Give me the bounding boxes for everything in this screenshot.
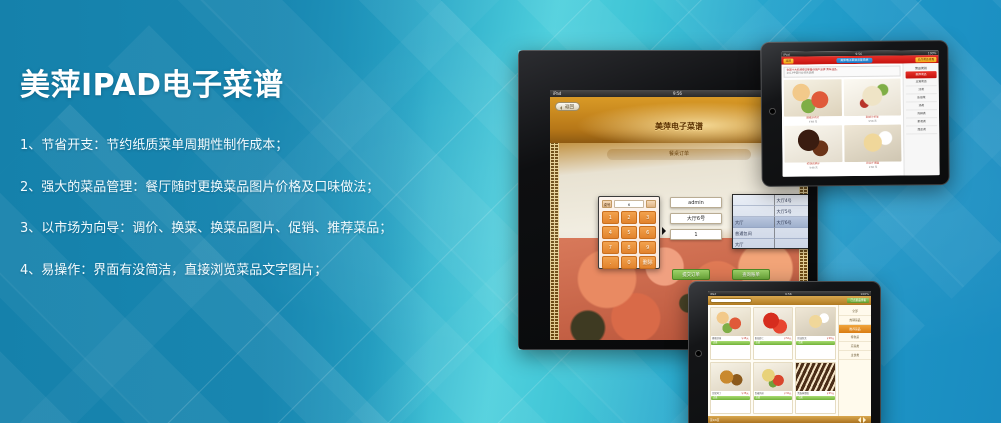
status-carrier: iPad (783, 52, 789, 56)
order-dish-button[interactable]: 点菜 (796, 341, 835, 345)
page-indicator: 第1/6页 (710, 418, 719, 422)
dish-price: ￥48 元 (785, 166, 843, 170)
keypad-grid[interactable]: 1 2 3 4 5 6 7 8 9 . 0 删除 (602, 211, 656, 269)
dish-card[interactable]: 红烧肉煲仔 ￥48 元 (784, 125, 842, 170)
status-time: 9:56 (785, 292, 792, 296)
dish-price: ￥38元 (741, 392, 749, 395)
order-dish-button[interactable]: 点菜 (711, 341, 750, 345)
dish-price: ￥48元 (741, 337, 749, 340)
back-button[interactable]: 返回 (555, 102, 580, 111)
notice-line-secondary: 2013中国行业领先品牌 (787, 71, 898, 76)
table-cell[interactable]: 大厅4号 (775, 195, 809, 206)
dish-card[interactable]: 奶油千层面 ￥38 元 (844, 125, 902, 170)
dish-price: ￥28元 (826, 337, 834, 340)
keypad-display: 桌号 6 (602, 200, 656, 208)
keypad-key[interactable]: 0 (621, 256, 638, 269)
table-cell[interactable] (775, 239, 809, 249)
order-fields: admin 大厅6号 1 (670, 197, 722, 245)
feature-bullet-3: 3、以市场为向导：调价、换菜、换菜品图片、促销、推荐菜品； (20, 221, 490, 237)
keypad-key[interactable]: 6 (639, 226, 656, 239)
dish-name: 番茄虾仁 (755, 337, 783, 340)
table-selection-panel[interactable]: 大厅4号 大厅5号 大厅 大厅6号 普通包间 大厅 (732, 194, 808, 249)
keypad-key[interactable]: 7 (602, 241, 619, 254)
pointer-arrow-icon (662, 227, 670, 235)
query-bill-button[interactable]: 查询账单 (732, 269, 770, 280)
status-time: 9:56 (855, 51, 862, 55)
table-field[interactable]: 大厅6号 (670, 213, 722, 224)
search-input[interactable] (710, 298, 752, 303)
order-dish-button[interactable]: 点菜 (711, 396, 750, 400)
menu-top-bar: 已点菜品查看 (708, 296, 871, 305)
app-title: 美萍电子菜谱点菜系统 (836, 57, 872, 62)
feature-bullet-4: 4、易操作：界面有没简洁，直接浏览菜品文字图片； (20, 263, 490, 279)
category-item[interactable]: 热销菜品 (839, 316, 871, 325)
order-dish-button[interactable]: 点菜 (796, 396, 835, 400)
dish-price: ￥58 元 (844, 119, 902, 123)
keypad-key[interactable]: 8 (621, 241, 638, 254)
top-right-tablet-device: iPad 9:56 100% 返回 美萍电子菜谱点菜系统 已点菜品查看 全国十大… (760, 40, 950, 187)
category-item[interactable]: 甜品类 (906, 126, 937, 134)
order-dish-button[interactable]: 点菜 (754, 341, 793, 345)
dish-image (754, 308, 793, 336)
dish-image (711, 363, 750, 391)
keypad-key[interactable]: 2 (621, 211, 638, 224)
dish-image (784, 125, 842, 163)
numeric-keypad[interactable]: 桌号 6 1 2 3 4 5 6 7 8 9 . (598, 196, 660, 269)
table-cell[interactable] (733, 206, 775, 217)
status-battery: 100% (860, 292, 869, 296)
menu-browser: 全国十大名牌餐饮零售终端产品牌 美味佳品。 2013中国行业领先品牌 鲜椒炒鸡片… (781, 63, 939, 177)
dish-price: ￥52元 (784, 337, 792, 340)
dish-price: ￥32元 (784, 392, 792, 395)
next-arrow-icon[interactable] (863, 417, 869, 423)
dish-image (754, 363, 793, 391)
pagination-controls (855, 417, 869, 423)
action-button-row: 提交订单 查询账单 (672, 269, 770, 280)
dish-image (844, 125, 902, 163)
count-field[interactable]: 1 (670, 229, 722, 240)
dish-card[interactable]: 黑森林蛋糕 ￥45元 点菜 (795, 362, 836, 415)
dish-name: 青椒肉丝 (755, 392, 783, 395)
category-item[interactable]: 主食类 (839, 351, 871, 360)
status-carrier: iPad (710, 292, 716, 296)
order-dish-button[interactable]: 点菜 (754, 396, 793, 400)
dish-card[interactable]: 香辣虾球 ￥48元 点菜 (710, 307, 751, 360)
category-item[interactable]: 凉菜类 (839, 342, 871, 351)
dish-card[interactable]: 青椒肉丝 ￥32元 点菜 (753, 362, 794, 415)
table-cell[interactable]: 大厅 (733, 239, 775, 249)
back-button[interactable]: 返回 (783, 58, 793, 63)
view-ordered-button[interactable]: 已点菜品查看 (847, 298, 869, 303)
home-button[interactable] (695, 350, 702, 357)
home-button[interactable] (769, 108, 776, 115)
backspace-icon[interactable] (646, 200, 656, 208)
category-item[interactable]: 特色菜 (839, 333, 871, 342)
keypad-value[interactable]: 6 (614, 200, 644, 208)
dish-image (784, 79, 842, 117)
dish-name: 奶油泡芙 (797, 337, 825, 340)
dish-card[interactable]: 彩椒汁虾球 ￥58 元 (843, 78, 901, 123)
table-cell-selected[interactable]: 大厅 (733, 217, 775, 228)
category-sidebar: 全部 热销菜品 推荐菜品 特色菜 凉菜类 主食类 (838, 305, 871, 416)
keypad-key[interactable]: 4 (602, 226, 619, 239)
keypad-key[interactable]: 3 (639, 211, 656, 224)
dish-card[interactable]: 番茄虾仁 ￥52元 点菜 (753, 307, 794, 360)
view-ordered-button[interactable]: 已点菜品查看 (916, 57, 937, 62)
category-item-active[interactable]: 推荐菜品 (839, 325, 871, 333)
dish-grid: 香辣虾球 ￥48元 点菜 番茄虾仁 ￥52元 点菜 (708, 305, 838, 416)
table-cell[interactable]: 普通包间 (733, 228, 775, 239)
category-sidebar: 菜品类别 推荐菜品 主营菜品 凉菜 店招菜 汤类 海鲜类 素菜类 甜品类 (902, 63, 939, 175)
pagination-bar: 第1/6页 (708, 416, 871, 423)
dish-price: ￥45元 (826, 392, 834, 395)
bottom-right-tablet-device: iPad 9:56 100% 已点菜品查看 香辣虾球 ￥48元 点菜 (688, 281, 881, 423)
table-cell[interactable] (733, 195, 775, 206)
dish-image (796, 308, 835, 336)
dish-image (711, 308, 750, 336)
table-cell-selected[interactable]: 大厅6号 (775, 217, 809, 228)
keypad-key[interactable]: 删除 (639, 256, 656, 269)
dish-name: 宫保鸡丁 (712, 392, 740, 395)
dish-card-footer: 黑森林蛋糕 ￥45元 (796, 391, 835, 396)
bottom-right-tablet-screen: iPad 9:56 100% 已点菜品查看 香辣虾球 ￥48元 点菜 (708, 291, 871, 423)
dish-card-footer: 青椒肉丝 ￥32元 (754, 391, 793, 396)
dish-price: ￥68 元 (784, 120, 842, 124)
dish-name: 黑森林蛋糕 (797, 392, 825, 395)
keypad-key[interactable]: 9 (639, 241, 656, 254)
prev-arrow-icon[interactable] (855, 417, 861, 423)
dish-card[interactable]: 奶油泡芙 ￥28元 点菜 (795, 307, 836, 360)
top-right-tablet-screen: iPad 9:56 100% 返回 美萍电子菜谱点菜系统 已点菜品查看 全国十大… (781, 50, 939, 177)
promo-banner: 美萍IPAD电子菜谱 1、节省开支：节约纸质菜单周期性制作成本； 2、强大的菜品… (0, 0, 1001, 423)
dish-grid-area: 全国十大名牌餐饮零售终端产品牌 美味佳品。 2013中国行业领先品牌 鲜椒炒鸡片… (781, 64, 903, 177)
category-item[interactable]: 全部 (839, 307, 871, 316)
feature-bullet-1: 1、节省开支：节约纸质菜单周期性制作成本； (20, 138, 490, 154)
keypad-label: 桌号 (602, 200, 612, 208)
status-carrier: iPad (553, 90, 561, 97)
dish-image (796, 363, 835, 391)
dish-name: 香辣虾球 (712, 337, 740, 340)
promo-copy: 美萍IPAD电子菜谱 1、节省开支：节约纸质菜单周期性制作成本； 2、强大的菜品… (20, 68, 490, 278)
keypad-key[interactable]: . (602, 256, 619, 269)
status-battery: 100% (928, 51, 937, 55)
user-field[interactable]: admin (670, 197, 722, 208)
status-time: 9:56 (673, 90, 682, 97)
section-subtitle: 餐桌订单 (607, 149, 752, 160)
dish-card[interactable]: 鲜椒炒鸡片 ￥68 元 (784, 79, 842, 124)
dish-card-footer: 宫保鸡丁 ￥38元 (711, 391, 750, 396)
table-cell[interactable] (775, 228, 809, 239)
feature-bullet-2: 2、强大的菜品管理：餐厅随时更换菜品图片价格及口味做法； (20, 180, 490, 196)
dish-price: ￥38 元 (844, 166, 902, 170)
dish-grid: 鲜椒炒鸡片 ￥68 元 彩椒汁虾球 ￥58 元 红烧肉煲仔 ￥48 元 (784, 78, 902, 170)
dish-card[interactable]: 宫保鸡丁 ￥38元 点菜 (710, 362, 751, 415)
submit-order-button[interactable]: 提交订单 (672, 269, 710, 280)
dish-image (843, 78, 901, 116)
table-cell[interactable]: 大厅5号 (775, 206, 809, 217)
notice-banner: 全国十大名牌餐饮零售终端产品牌 美味佳品。 2013中国行业领先品牌 (784, 66, 901, 78)
keypad-key[interactable]: 5 (621, 226, 638, 239)
keypad-key[interactable]: 1 (602, 211, 619, 224)
page-title: 美萍IPAD电子菜谱 (20, 68, 490, 104)
menu-browser: 香辣虾球 ￥48元 点菜 番茄虾仁 ￥52元 点菜 (708, 305, 871, 416)
